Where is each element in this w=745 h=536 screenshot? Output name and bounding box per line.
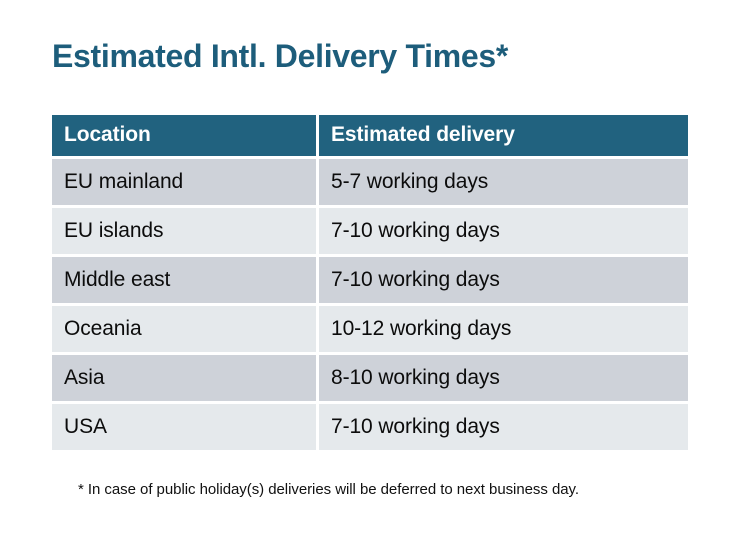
table-header: Location Estimated delivery <box>52 115 688 156</box>
page-title: Estimated Intl. Delivery Times* <box>52 36 508 76</box>
cell-location: USA <box>52 404 316 450</box>
cell-location: EU islands <box>52 208 316 254</box>
table-row: EU mainland 5-7 working days <box>52 159 688 205</box>
cell-delivery: 8-10 working days <box>319 355 688 401</box>
cell-location: Oceania <box>52 306 316 352</box>
table-row: Oceania 10-12 working days <box>52 306 688 352</box>
column-header-location: Location <box>52 115 316 156</box>
cell-delivery: 7-10 working days <box>319 208 688 254</box>
cell-location: Middle east <box>52 257 316 303</box>
table-row: EU islands 7-10 working days <box>52 208 688 254</box>
cell-location: EU mainland <box>52 159 316 205</box>
cell-location: Asia <box>52 355 316 401</box>
cell-delivery: 10-12 working days <box>319 306 688 352</box>
column-header-estimated-delivery: Estimated delivery <box>319 115 688 156</box>
cell-delivery: 5-7 working days <box>319 159 688 205</box>
table-row: Asia 8-10 working days <box>52 355 688 401</box>
table-header-row: Location Estimated delivery <box>52 115 688 156</box>
table-row: USA 7-10 working days <box>52 404 688 450</box>
table-row: Middle east 7-10 working days <box>52 257 688 303</box>
table-body: EU mainland 5-7 working days EU islands … <box>52 159 688 450</box>
table-footnote: * In case of public holiday(s) deliverie… <box>78 481 579 498</box>
delivery-times-table: Location Estimated delivery EU mainland … <box>49 112 691 453</box>
cell-delivery: 7-10 working days <box>319 257 688 303</box>
cell-delivery: 7-10 working days <box>319 404 688 450</box>
delivery-times-page: Estimated Intl. Delivery Times* Location… <box>0 0 745 536</box>
